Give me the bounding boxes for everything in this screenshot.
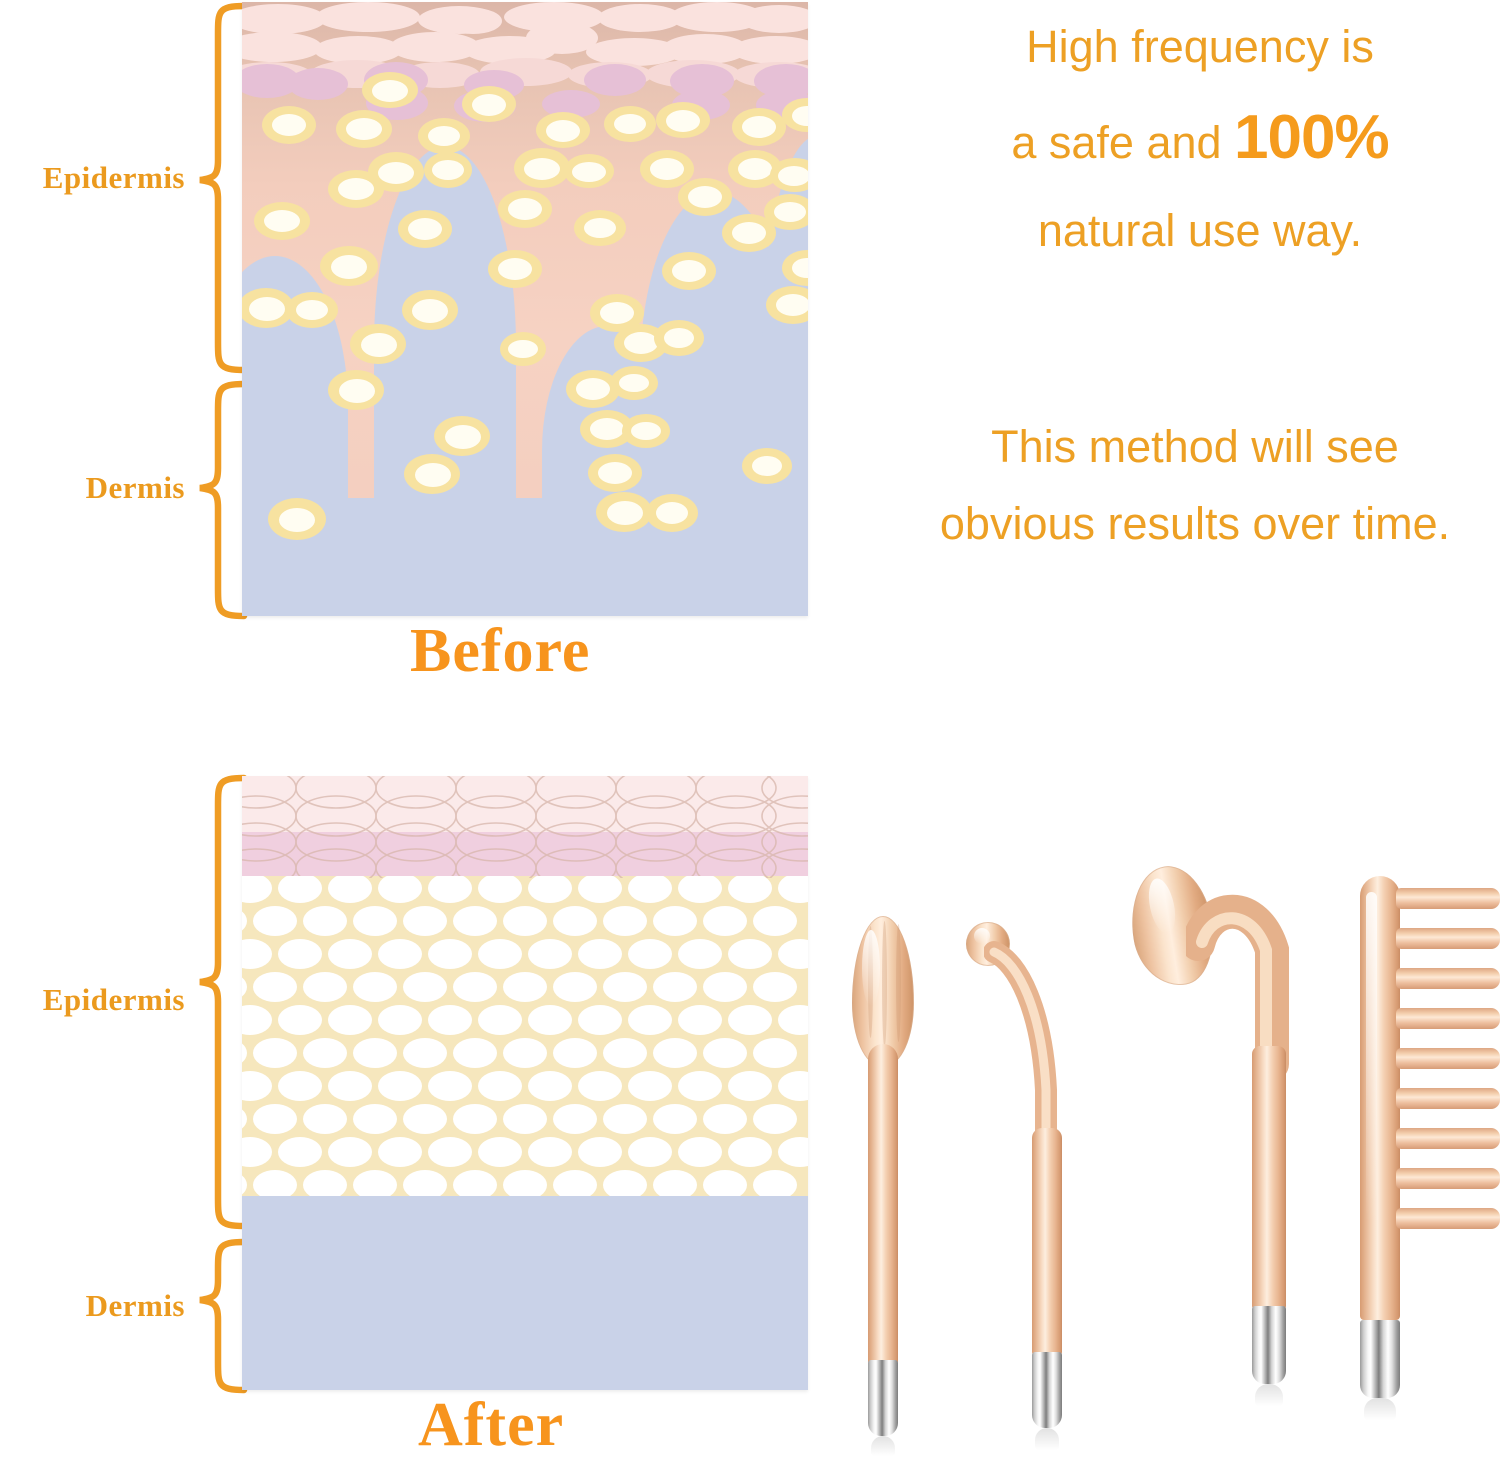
bent-tip-reflection: [1035, 1428, 1059, 1450]
copy-highlight-100-percent: 100%: [1234, 103, 1389, 172]
attachment-mushroom-electrode[interactable]: [838, 916, 958, 1456]
after-dermis-brace: [200, 1242, 244, 1390]
headline-copy-block-2: This method will see obvious results ove…: [915, 408, 1475, 563]
copy-line-2-prefix: a safe and: [1011, 117, 1234, 168]
bent-tip-shaft: [1032, 1128, 1062, 1356]
before-dermis-brace: [200, 384, 244, 616]
copy-line-2: a safe and 100%: [915, 85, 1485, 192]
attachment-comb-electrode[interactable]: [1352, 876, 1500, 1460]
comb-tooth: [1396, 1088, 1500, 1109]
comb-ferrule: [1360, 1320, 1400, 1398]
trumpet-shaft: [1252, 1046, 1286, 1310]
copy-line-1: High frequency is: [915, 8, 1485, 85]
comb-tooth: [1396, 1208, 1500, 1229]
after-caption: After: [418, 1390, 564, 1461]
copy-line-3: natural use way.: [915, 192, 1485, 269]
after-epidermis-brace: [200, 778, 244, 1226]
mushroom-reflection: [871, 1436, 895, 1456]
product-infographic: Epidermis Dermis: [0, 0, 1500, 1478]
headline-copy-block-1: High frequency is a safe and 100% natura…: [915, 8, 1485, 269]
comb-tooth: [1396, 1048, 1500, 1069]
comb-tooth: [1396, 1168, 1500, 1189]
mushroom-shaft: [868, 1044, 898, 1364]
before-epidermis-brace: [200, 6, 244, 370]
comb-reflection: [1364, 1398, 1396, 1420]
after-healthy-cell-pattern: [242, 876, 808, 1196]
comb-tooth: [1396, 1128, 1500, 1149]
before-skin-diagram: [242, 2, 808, 616]
after-skin-diagram: [242, 776, 808, 1390]
bent-tip-neck: [984, 940, 1084, 1150]
after-dermis-layer: [242, 1196, 808, 1390]
trumpet-ferrule: [1252, 1306, 1286, 1384]
mushroom-ferrule: [868, 1360, 898, 1436]
attachment-trumpet-electrode[interactable]: [1130, 862, 1290, 1458]
before-caption: Before: [410, 616, 590, 687]
bent-tip-ferrule: [1032, 1352, 1062, 1428]
after-epidermis-label: Epidermis: [0, 982, 185, 1018]
after-dermis-label: Dermis: [0, 1288, 185, 1324]
comb-tooth: [1396, 888, 1500, 909]
attachment-bent-tip-electrode[interactable]: [966, 908, 1101, 1458]
before-dermis-label: Dermis: [0, 470, 185, 506]
trumpet-reflection: [1255, 1384, 1283, 1406]
comb-tooth: [1396, 928, 1500, 949]
before-epidermis-label: Epidermis: [0, 160, 185, 196]
comb-tooth: [1396, 1008, 1500, 1029]
comb-tooth: [1396, 968, 1500, 989]
after-surface-cell-pattern: [242, 776, 808, 878]
